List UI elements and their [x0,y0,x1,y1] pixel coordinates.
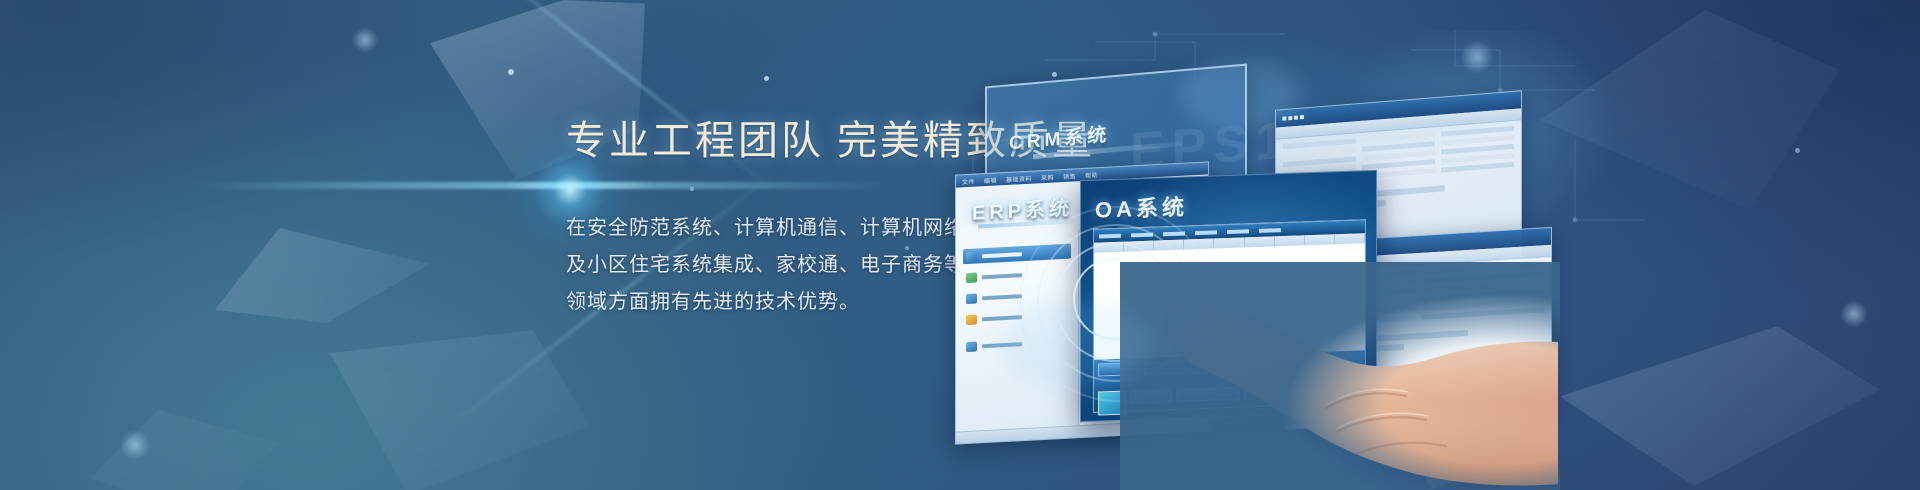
erp-menu-item[interactable]: 基础资料 [1006,173,1032,183]
bokeh-dot [508,69,514,75]
pointing-hand [1120,262,1560,490]
grid-cell [1441,162,1514,173]
erp-sidebar-item-label [982,273,1022,279]
grid-column [1441,126,1514,177]
ribbon-button[interactable] [1259,228,1281,233]
database-icon [966,272,977,283]
highlight-wisp [1000,300,1150,390]
bokeh-glow [120,430,150,460]
erp-sidebar-item-label [982,294,1022,300]
bokeh-dot [764,76,769,81]
bokeh-glow [352,27,378,53]
pointing-hand-icon [1120,262,1560,490]
document-icon [966,293,977,304]
report-icon [966,314,977,325]
ribbon-button[interactable] [1195,230,1217,235]
bokeh-dot [1795,148,1800,153]
erp-menu-item[interactable]: 帮助 [1085,170,1098,180]
highlight-wisp [1180,60,1300,130]
erp-menu-item[interactable]: 采购 [1041,172,1054,182]
erp-menu-item[interactable]: 编辑 [984,175,997,185]
folder-icon [966,251,977,262]
gear-icon [966,341,977,352]
bokeh-glow [1840,300,1868,328]
hero-banner: 专业工程团队 完美精致质量 在安全防范系统、计算机通信、计算机网络、智能大厦 及… [0,0,1920,490]
ribbon-button[interactable] [1227,229,1249,234]
erp-menu-item[interactable]: 文件 [962,176,975,186]
erp-menu-item[interactable]: 销售 [1063,171,1076,181]
erp-sidebar-item-label [982,252,1022,258]
